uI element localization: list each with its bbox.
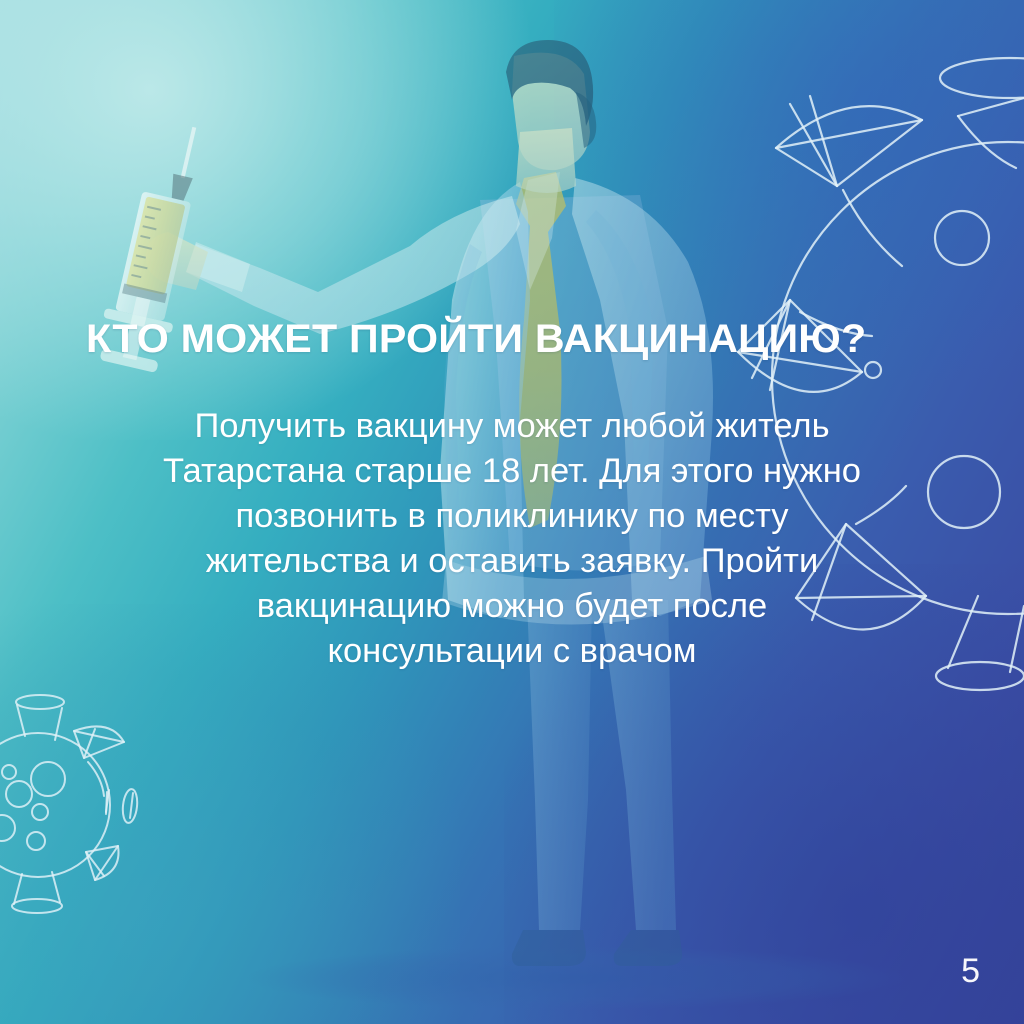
body-line-4: жительства и оставить заявку. Пройти xyxy=(62,539,962,584)
body-line-5: вакцинацию можно будет после xyxy=(62,584,962,629)
body-line-2: Татарстана старше 18 лет. Для этого нужн… xyxy=(62,449,962,494)
slide-content: КТО МОЖЕТ ПРОЙТИ ВАКЦИНАЦИЮ? Получить ва… xyxy=(0,0,1024,1024)
page-number: 5 xyxy=(961,954,980,988)
body-paragraph: Получить вакцину может любой житель Тата… xyxy=(62,404,962,674)
body-line-6: консультации с врачом xyxy=(62,629,962,674)
vaccination-info-slide: КТО МОЖЕТ ПРОЙТИ ВАКЦИНАЦИЮ? Получить ва… xyxy=(0,0,1024,1024)
body-line-1: Получить вакцину может любой житель xyxy=(62,404,962,449)
page-title: КТО МОЖЕТ ПРОЙТИ ВАКЦИНАЦИЮ? xyxy=(86,315,968,363)
body-line-3: позвонить в поликлинику по месту xyxy=(62,494,962,539)
